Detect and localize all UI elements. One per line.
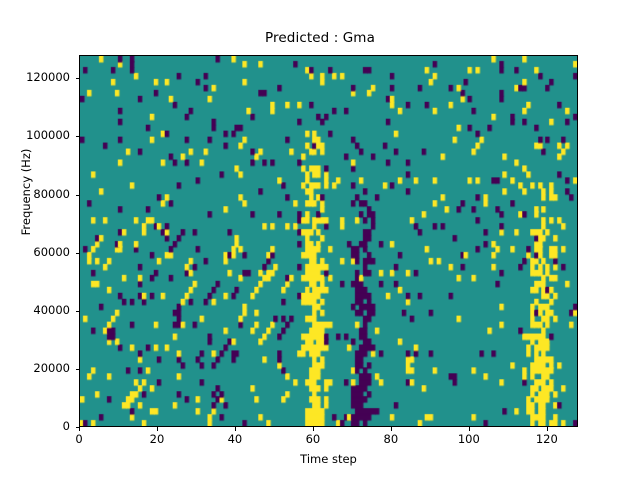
page-title: Predicted : Gma (0, 30, 640, 46)
y-tick-mark (76, 369, 80, 370)
heatmap-axes (79, 55, 578, 427)
y-tick-mark (76, 78, 80, 79)
y-tick-mark (76, 136, 80, 137)
x-tick-label: 100 (439, 432, 499, 446)
y-tick-label: 80000 (8, 187, 70, 201)
y-tick-label: 20000 (8, 361, 70, 375)
x-tick-label: 120 (517, 432, 577, 446)
y-tick-label: 0 (8, 419, 70, 433)
x-tick-mark (157, 427, 158, 431)
x-axis-label: Time step (79, 452, 578, 466)
y-tick-mark (76, 195, 80, 196)
y-tick-mark (76, 427, 80, 428)
x-tick-mark (469, 427, 470, 431)
x-tick-label: 80 (361, 432, 421, 446)
figure-canvas: Predicted : Gma 020406080100120 02000040… (0, 0, 640, 480)
y-tick-label: 100000 (8, 128, 70, 142)
x-tick-mark (235, 427, 236, 431)
x-tick-mark (391, 427, 392, 431)
x-tick-mark (79, 427, 80, 431)
y-tick-label: 40000 (8, 303, 70, 317)
y-tick-label: 120000 (8, 70, 70, 84)
y-axis-label: Frequency (Hz) (19, 82, 33, 302)
x-tick-label: 40 (205, 432, 265, 446)
y-tick-mark (76, 253, 80, 254)
heatmap-image (80, 56, 577, 426)
x-tick-label: 0 (49, 432, 109, 446)
y-tick-label: 60000 (8, 245, 70, 259)
x-tick-label: 20 (127, 432, 187, 446)
x-tick-mark (313, 427, 314, 431)
y-tick-mark (76, 311, 80, 312)
x-tick-label: 60 (283, 432, 343, 446)
x-tick-mark (547, 427, 548, 431)
